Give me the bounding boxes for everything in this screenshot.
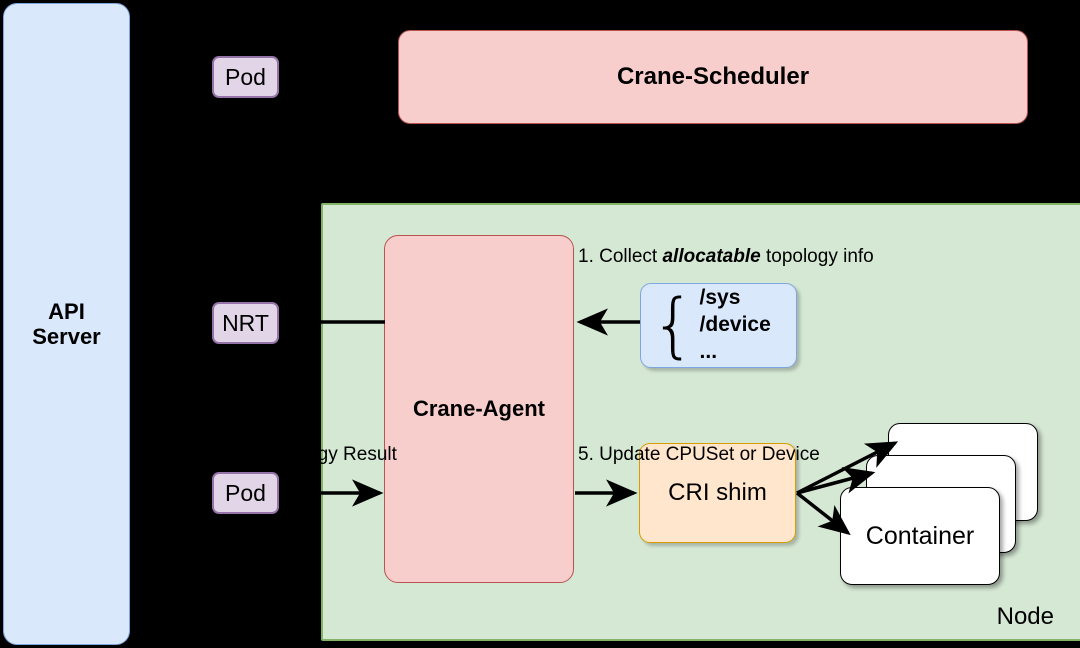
edge-label-nrt-cr: RT(CR) — [240, 245, 305, 267]
edge-label-update-cpuset: 5. Update CPUSet or Device — [578, 444, 820, 466]
container-card-front[interactable]: Container — [840, 487, 1000, 585]
crane-scheduler-node[interactable]: Crane-Scheduler — [398, 30, 1028, 124]
edge-label-collect-suffix: topology info — [761, 246, 874, 267]
nrt-badge[interactable]: NRT — [212, 302, 279, 344]
crane-agent-label: Crane-Agent — [413, 396, 545, 421]
edge-label-retrieve-topology-text: eve topology Result — [230, 444, 397, 465]
pod-badge-bottom[interactable]: Pod — [212, 472, 279, 514]
node-group-label: Node — [997, 603, 1054, 631]
sys-device-lines: /sys /device ... — [700, 285, 771, 366]
edge-label-update-cpuset-text: 5. Update CPUSet or Device — [578, 444, 820, 465]
pod-badge-top[interactable]: Pod — [212, 56, 279, 98]
sys-device-node[interactable]: { /sys /device ... — [640, 283, 797, 368]
edge-label-collect-prefix: 1. Collect — [578, 246, 662, 267]
edge-label-retrieve-topology: eve topology Result — [230, 444, 397, 466]
pod-badge-top-label: Pod — [225, 64, 266, 90]
diagram-canvas: API Server Pod NRT Pod Crane-Scheduler N… — [0, 0, 1080, 648]
ellipsis-line: ... — [700, 339, 718, 366]
device-path-line: /device — [700, 312, 771, 339]
cri-shim-label: CRI shim — [668, 479, 767, 507]
crane-agent-node[interactable]: Crane-Agent — [384, 235, 574, 583]
sys-path-line: /sys — [700, 285, 741, 312]
pod-badge-bottom-label: Pod — [225, 480, 266, 506]
curly-brace-icon: { — [651, 297, 696, 354]
edge-label-collect-emphasis: allocatable — [662, 246, 760, 267]
api-server-node[interactable]: API Server — [3, 3, 130, 645]
edge-label-nrt-cr-text: RT(CR) — [240, 245, 305, 266]
api-server-label-line1: API — [32, 299, 101, 324]
container-card-front-label: Container — [866, 522, 974, 551]
crane-scheduler-label: Crane-Scheduler — [617, 63, 809, 91]
edge-label-collect-allocatable: 1. Collect allocatable topology info — [578, 246, 874, 268]
nrt-badge-label: NRT — [222, 310, 269, 336]
api-server-label-line2: Server — [32, 324, 101, 349]
